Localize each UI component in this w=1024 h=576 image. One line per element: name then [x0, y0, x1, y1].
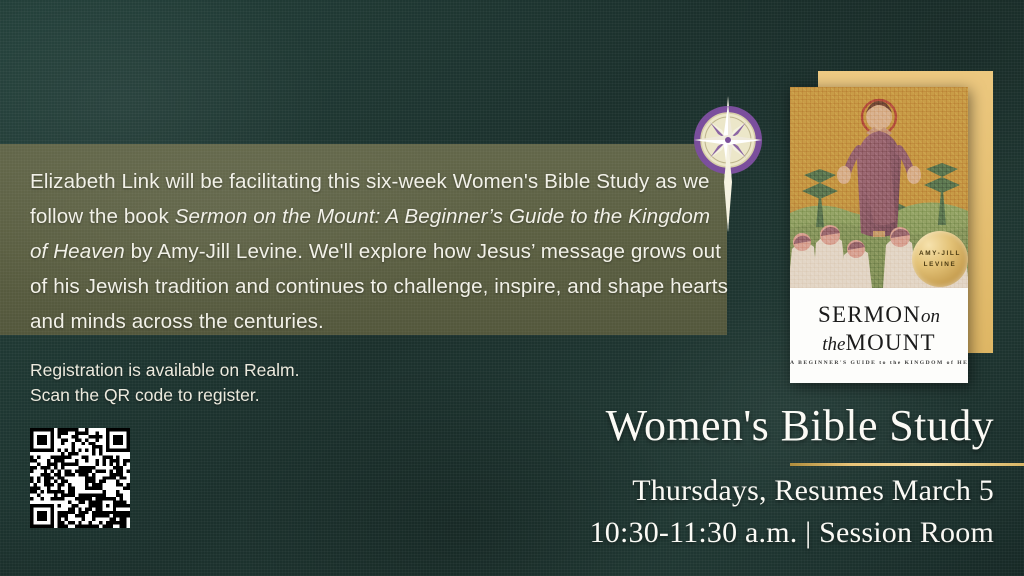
description-book-title: Sermon on the Mount: A Beginner’s Guide … — [30, 205, 710, 263]
page-title: Women's Bible Study — [474, 400, 994, 452]
book-title-line-2: theMOUNT — [790, 330, 968, 356]
qr-code-image[interactable] — [30, 428, 130, 528]
book-cover: AMY-JILL LEVINE SERMONon theMOUNT A BEGI… — [790, 87, 968, 383]
registration-line-1: Registration is available on Realm. — [30, 358, 299, 383]
event-schedule: Thursdays, Resumes March 5 10:30-11:30 a… — [434, 470, 994, 554]
author-badge: AMY-JILL LEVINE — [912, 231, 968, 287]
schedule-line-2: 10:30-11:30 a.m. | Session Room — [434, 512, 994, 554]
description-sentence-1: Elizabeth Link will be facilitating this… — [30, 170, 728, 333]
schedule-line-1: Thursdays, Resumes March 5 — [434, 470, 994, 512]
author-badge-line2: LEVINE — [924, 259, 957, 270]
registration-line-2: Scan the QR code to register. — [30, 383, 299, 408]
book-title-mount: MOUNT — [845, 330, 935, 355]
book-title-sermon: SERMON — [818, 302, 921, 327]
qr-code[interactable] — [30, 428, 130, 528]
description-text: as we follow the book Elizabeth Link wil… — [30, 164, 730, 339]
book-title-line-1: SERMONon — [790, 302, 968, 328]
book-title-on: on — [921, 306, 940, 327]
book-cover-mosaic-artwork: AMY-JILL LEVINE — [790, 87, 968, 288]
book-subtitle: A BEGINNER'S GUIDE to the KINGDOM of HEA… — [790, 360, 968, 366]
book-title-the: the — [822, 334, 845, 355]
registration-info: Registration is available on Realm. Scan… — [30, 358, 299, 408]
slide-canvas: AMY-JILL LEVINE SERMONon theMOUNT A BEGI… — [0, 0, 1024, 576]
author-badge-line1: AMY-JILL — [919, 248, 961, 259]
gold-divider-line — [790, 463, 1024, 466]
